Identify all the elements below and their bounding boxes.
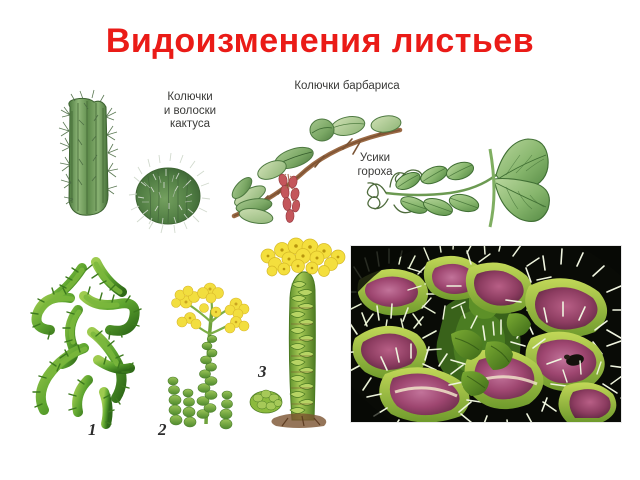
label-pea-tendrils: Усики гороха — [330, 152, 420, 179]
succulent-plant-1-illustration — [22, 252, 157, 427]
venus-flytrap-photo — [350, 245, 622, 423]
figure-number-3: 3 — [258, 362, 267, 382]
label-pea-line-1: Усики — [330, 152, 420, 166]
flowering-sedum-2-illustration — [160, 282, 265, 428]
pea-leaf-tendrils-illustration — [378, 135, 563, 240]
page-title: Видоизменения листьев — [0, 22, 640, 61]
label-pea-line-2: гороха — [330, 166, 420, 180]
figure-number-1: 1 — [88, 420, 97, 440]
scaly-succulent-3-illustration — [258, 238, 363, 428]
globe-cactus-illustration — [130, 152, 210, 230]
label-cactus-line-1: Колючки — [125, 91, 255, 105]
label-barberry-thorns: Колючки барбариса — [262, 80, 432, 94]
figure-number-2: 2 — [158, 420, 167, 440]
slide-canvas: Видоизменения листьев — [0, 0, 640, 480]
columnar-cactus-illustration — [48, 95, 128, 220]
